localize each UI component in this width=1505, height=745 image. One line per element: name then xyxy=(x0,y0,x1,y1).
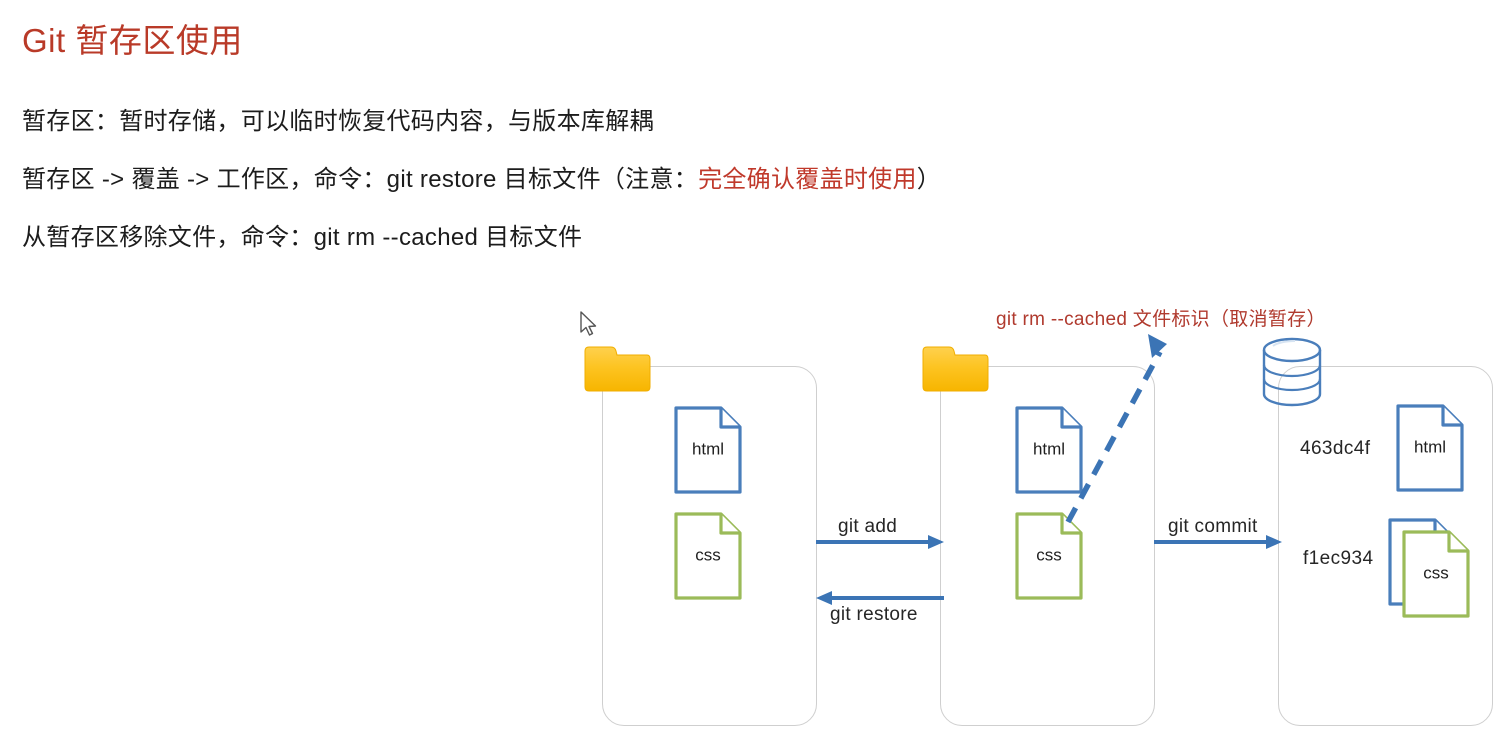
file-icon-html: html xyxy=(1396,404,1464,492)
file-icon-css: css xyxy=(1402,530,1470,618)
arrow-git-rm-cached xyxy=(1060,330,1178,530)
file-icon-html: html xyxy=(674,406,742,494)
arrow-label-git-commit: git commit xyxy=(1168,516,1258,538)
commit-hash-html: 463dc4f xyxy=(1300,438,1370,460)
mouse-cursor xyxy=(580,311,598,337)
annotation-git-rm-cached: git rm --cached 文件标识（取消暂存） xyxy=(996,304,1326,331)
commit-hash-css: f1ec934 xyxy=(1303,548,1373,570)
database-icon xyxy=(1261,337,1323,407)
file-icon-css: css xyxy=(674,512,742,600)
arrow-label-git-add: git add xyxy=(838,516,897,538)
folder-icon xyxy=(583,345,651,393)
arrow-label-git-restore: git restore xyxy=(830,604,918,626)
folder-icon xyxy=(921,345,989,393)
git-workflow-diagram: html css html css html xyxy=(0,0,1505,745)
